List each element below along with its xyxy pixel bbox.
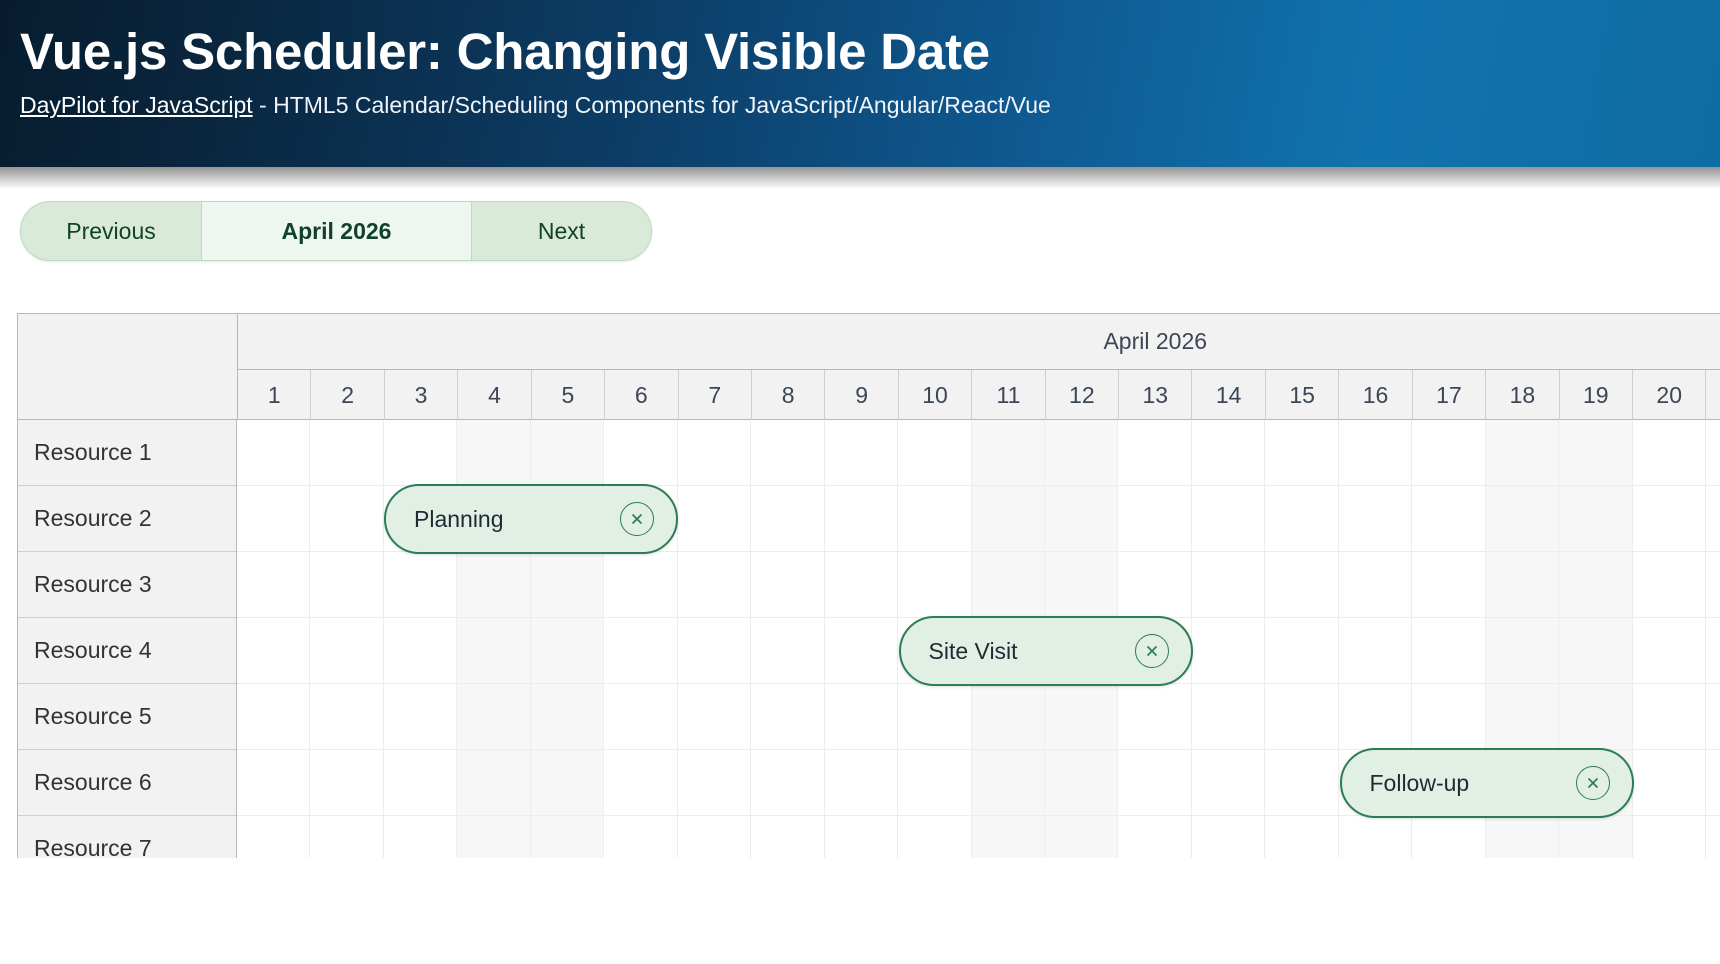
scheduler-cell[interactable] [310, 486, 383, 552]
scheduler-cell[interactable] [1559, 684, 1632, 750]
close-icon[interactable] [1135, 634, 1169, 668]
scheduler-cell[interactable] [1412, 486, 1485, 552]
scheduler-cell[interactable] [678, 486, 751, 552]
scheduler-cell[interactable] [384, 420, 457, 486]
scheduler-event-label: Planning [386, 506, 620, 533]
scheduler-cell[interactable] [825, 816, 898, 858]
scheduler-cell[interactable] [1339, 684, 1412, 750]
scheduler-cell[interactable] [1559, 618, 1632, 684]
scheduler-cell[interactable] [1486, 816, 1559, 858]
scheduler-cell[interactable] [1339, 486, 1412, 552]
scheduler-cell[interactable] [310, 684, 383, 750]
scheduler-cell[interactable] [384, 618, 457, 684]
scheduler-cell[interactable] [751, 486, 824, 552]
scheduler-cell[interactable] [1706, 750, 1720, 816]
scheduler-cell[interactable] [972, 684, 1045, 750]
scheduler-cell[interactable] [1118, 552, 1191, 618]
scheduler-cell[interactable] [531, 552, 604, 618]
scheduler-cell[interactable] [310, 552, 383, 618]
timeline-month-cell: April 2026 [238, 314, 1720, 370]
scheduler-corner-cell [17, 313, 237, 420]
banner-shadow [0, 167, 1720, 189]
daypilot-link[interactable]: DayPilot for JavaScript [20, 92, 253, 118]
scheduler-cell[interactable] [1559, 420, 1632, 486]
scheduler-cell[interactable] [1559, 816, 1632, 858]
resource-row-label[interactable]: Resource 5 [18, 684, 236, 750]
scheduler-cell[interactable] [604, 750, 677, 816]
timeline-day-cell[interactable]: 21 [1706, 370, 1720, 420]
scheduler-cell[interactable] [310, 420, 383, 486]
scheduler-cell[interactable] [237, 486, 310, 552]
scheduler-cell[interactable] [1412, 816, 1485, 858]
scheduler-cell[interactable] [1633, 816, 1706, 858]
scheduler-cell[interactable] [1559, 552, 1632, 618]
scheduler-cell[interactable] [1633, 420, 1706, 486]
scheduler-event-label: Site Visit [901, 638, 1135, 665]
current-range-label: April 2026 [201, 201, 471, 261]
scheduler-cell[interactable] [310, 750, 383, 816]
scheduler-cell[interactable] [898, 750, 971, 816]
scheduler-cell[interactable] [1118, 816, 1191, 858]
scheduler-cell[interactable] [1192, 486, 1265, 552]
scheduler-cell[interactable] [1045, 420, 1118, 486]
scheduler-cell[interactable] [678, 618, 751, 684]
scheduler-cell[interactable] [751, 684, 824, 750]
scheduler-cell[interactable] [1265, 420, 1338, 486]
timeline-day-cell[interactable]: 3 [385, 370, 458, 420]
scheduler-cell[interactable] [1192, 420, 1265, 486]
scheduler-grid-area[interactable]: PlanningSite VisitFollow-up [237, 420, 1720, 858]
timeline-day-cell[interactable]: 12 [1046, 370, 1119, 420]
navigation-button-group: Previous April 2026 Next [20, 201, 652, 261]
timeline-month-row: April 2026 [238, 314, 1720, 370]
timeline-day-cell[interactable]: 4 [458, 370, 531, 420]
scheduler-cell[interactable] [1339, 618, 1412, 684]
scheduler-event-label: Follow-up [1342, 770, 1576, 797]
scheduler-cell[interactable] [1633, 486, 1706, 552]
scheduler-cell[interactable] [1486, 420, 1559, 486]
scheduler-cell[interactable] [310, 618, 383, 684]
scheduler-cell[interactable] [825, 618, 898, 684]
scheduler-cell[interactable] [384, 684, 457, 750]
page-title: Vue.js Scheduler: Changing Visible Date [20, 22, 1720, 82]
scheduler-cell[interactable] [1192, 816, 1265, 858]
scheduler-cell[interactable] [825, 750, 898, 816]
scheduler-cell[interactable] [1486, 552, 1559, 618]
scheduler-cell[interactable] [531, 750, 604, 816]
scheduler-row[interactable] [237, 420, 1720, 486]
scheduler-cell[interactable] [1045, 816, 1118, 858]
scheduler-cell[interactable] [1412, 420, 1485, 486]
scheduler-cell[interactable] [751, 816, 824, 858]
scheduler-cell[interactable] [751, 618, 824, 684]
scheduler-cell[interactable] [237, 750, 310, 816]
scheduler-cell[interactable] [898, 552, 971, 618]
scheduler-cell[interactable] [384, 552, 457, 618]
scheduler-cell[interactable] [1486, 684, 1559, 750]
timeline-day-cell[interactable]: 20 [1633, 370, 1706, 420]
timeline-day-cell[interactable]: 15 [1266, 370, 1339, 420]
scheduler-cell[interactable] [751, 552, 824, 618]
scheduler-cell[interactable] [1559, 486, 1632, 552]
scheduler-cell[interactable] [531, 420, 604, 486]
scheduler-event[interactable]: Follow-up [1340, 748, 1634, 818]
timeline-day-cell[interactable]: 2 [311, 370, 384, 420]
scheduler-cell[interactable] [1118, 750, 1191, 816]
resource-row-label[interactable]: Resource 6 [18, 750, 236, 816]
scheduler-cell[interactable] [1706, 684, 1720, 750]
scheduler-cell[interactable] [1706, 486, 1720, 552]
scheduler-cell[interactable] [1706, 420, 1720, 486]
scheduler-cell[interactable] [1265, 486, 1338, 552]
timeline-day-cell[interactable]: 7 [679, 370, 752, 420]
scheduler-cell[interactable] [751, 420, 824, 486]
scheduler-cell[interactable] [751, 750, 824, 816]
timeline-day-cell[interactable]: 6 [605, 370, 678, 420]
scheduler-cell[interactable] [678, 816, 751, 858]
resource-row-label[interactable]: Resource 7 [18, 816, 236, 858]
scheduler-cell[interactable] [1118, 684, 1191, 750]
timeline-day-cell[interactable]: 9 [825, 370, 898, 420]
scheduler-cell[interactable] [531, 618, 604, 684]
scheduler-event[interactable]: Site Visit [899, 616, 1193, 686]
scheduler-cell[interactable] [1045, 486, 1118, 552]
scheduler-cell[interactable] [531, 816, 604, 858]
close-icon[interactable] [620, 502, 654, 536]
scheduler-cell[interactable] [825, 486, 898, 552]
scheduler-cell[interactable] [237, 552, 310, 618]
scheduler-cell[interactable] [678, 750, 751, 816]
scheduler-cell[interactable] [1412, 618, 1485, 684]
scheduler-cell[interactable] [237, 420, 310, 486]
timeline-day-cell[interactable]: 1 [238, 370, 311, 420]
scheduler-cell[interactable] [1706, 816, 1720, 858]
scheduler-cell[interactable] [678, 420, 751, 486]
scheduler-cell[interactable] [898, 816, 971, 858]
scheduler-cell[interactable] [1192, 750, 1265, 816]
scheduler-cell[interactable] [1192, 684, 1265, 750]
timeline-day-cell[interactable]: 14 [1192, 370, 1265, 420]
resource-row-label[interactable]: Resource 3 [18, 552, 236, 618]
scheduler-cell[interactable] [1265, 684, 1338, 750]
scheduler-cell[interactable] [1265, 816, 1338, 858]
resource-column[interactable]: Resource 1Resource 2Resource 3Resource 4… [17, 420, 237, 858]
resource-row-label[interactable]: Resource 1 [18, 420, 236, 486]
scheduler-cell[interactable] [825, 420, 898, 486]
scheduler-cell[interactable] [825, 552, 898, 618]
scheduler-cell[interactable] [1265, 618, 1338, 684]
scheduler-cell[interactable] [898, 420, 971, 486]
scheduler-cell[interactable] [1265, 552, 1338, 618]
scheduler-cell[interactable] [972, 750, 1045, 816]
scheduler-cell[interactable] [604, 420, 677, 486]
scheduler-cell[interactable] [1118, 420, 1191, 486]
scheduler-cell[interactable] [1486, 486, 1559, 552]
timeline-day-cell[interactable]: 13 [1119, 370, 1192, 420]
scheduler-cell[interactable] [1633, 750, 1706, 816]
scheduler-cell[interactable] [237, 816, 310, 858]
scheduler-cell[interactable] [898, 486, 971, 552]
scheduler-cell[interactable] [237, 618, 310, 684]
scheduler-cell[interactable] [972, 420, 1045, 486]
scheduler-cell[interactable] [1339, 816, 1412, 858]
next-button[interactable]: Next [471, 201, 652, 261]
scheduler-cell[interactable] [384, 750, 457, 816]
scheduler-cell[interactable] [1192, 552, 1265, 618]
scheduler-cell[interactable] [972, 816, 1045, 858]
scheduler-cell[interactable] [678, 684, 751, 750]
timeline-day-cell[interactable]: 18 [1486, 370, 1559, 420]
scheduler-cell[interactable] [604, 552, 677, 618]
resource-row-label[interactable]: Resource 4 [18, 618, 236, 684]
scheduler-cell[interactable] [1706, 552, 1720, 618]
scheduler-cell[interactable] [457, 420, 530, 486]
resource-row-label[interactable]: Resource 2 [18, 486, 236, 552]
page-subtitle: DayPilot for JavaScript - HTML5 Calendar… [20, 91, 1720, 121]
scheduler-cell[interactable] [604, 816, 677, 858]
scheduler-cell[interactable] [1339, 420, 1412, 486]
scheduler-timeline-header: April 2026 12345678910111213141516171819… [237, 313, 1720, 420]
timeline-day-cell[interactable]: 8 [752, 370, 825, 420]
scheduler[interactable]: April 2026 12345678910111213141516171819… [17, 313, 1720, 858]
scheduler-cell[interactable] [604, 684, 677, 750]
close-icon[interactable] [1576, 766, 1610, 800]
timeline-day-cell[interactable]: 5 [532, 370, 605, 420]
scheduler-cell[interactable] [1045, 750, 1118, 816]
timeline-day-cell[interactable]: 10 [899, 370, 972, 420]
scheduler-cell[interactable] [1192, 618, 1265, 684]
scheduler-cell[interactable] [1412, 684, 1485, 750]
scheduler-cell[interactable] [825, 684, 898, 750]
scheduler-cell[interactable] [1412, 552, 1485, 618]
scheduler-row[interactable] [237, 552, 1720, 618]
timeline-day-cell[interactable]: 17 [1413, 370, 1486, 420]
scheduler-cell[interactable] [972, 552, 1045, 618]
scheduler-cell[interactable] [604, 618, 677, 684]
scheduler-cell[interactable] [1486, 618, 1559, 684]
scheduler-cell[interactable] [384, 816, 457, 858]
scheduler-cell[interactable] [1118, 486, 1191, 552]
scheduler-cell[interactable] [898, 684, 971, 750]
scheduler-cell[interactable] [972, 486, 1045, 552]
scheduler-cell[interactable] [457, 816, 530, 858]
page-subtitle-rest: - HTML5 Calendar/Scheduling Components f… [253, 92, 1051, 118]
scheduler-cell[interactable] [531, 684, 604, 750]
scheduler-cell[interactable] [457, 618, 530, 684]
page-banner: Vue.js Scheduler: Changing Visible Date … [0, 0, 1720, 167]
timeline-day-cell[interactable]: 16 [1339, 370, 1412, 420]
scheduler-cell[interactable] [1265, 750, 1338, 816]
scheduler-cell[interactable] [237, 684, 310, 750]
timeline-day-cell[interactable]: 11 [972, 370, 1045, 420]
scheduler-cell[interactable] [678, 552, 751, 618]
scheduler-cell[interactable] [457, 750, 530, 816]
scheduler-cell[interactable] [1633, 684, 1706, 750]
scheduler-row[interactable] [237, 816, 1720, 858]
scheduler-header: April 2026 12345678910111213141516171819… [17, 313, 1720, 420]
scheduler-cell[interactable] [1045, 552, 1118, 618]
scheduler-cell[interactable] [1339, 552, 1412, 618]
scheduler-cell[interactable] [1706, 618, 1720, 684]
scheduler-row[interactable] [237, 684, 1720, 750]
timeline-day-cell[interactable]: 19 [1560, 370, 1633, 420]
scheduler-body[interactable]: Resource 1Resource 2Resource 3Resource 4… [17, 420, 1720, 858]
previous-button[interactable]: Previous [20, 201, 201, 261]
scheduler-cell[interactable] [457, 684, 530, 750]
scheduler-cell[interactable] [457, 552, 530, 618]
timeline-days-row: 1234567891011121314151617181920212223242… [238, 370, 1720, 420]
scheduler-cell[interactable] [1045, 684, 1118, 750]
scheduler-cell[interactable] [1633, 552, 1706, 618]
scheduler-event[interactable]: Planning [384, 484, 678, 554]
scheduler-cell[interactable] [310, 816, 383, 858]
scheduler-cell[interactable] [1633, 618, 1706, 684]
